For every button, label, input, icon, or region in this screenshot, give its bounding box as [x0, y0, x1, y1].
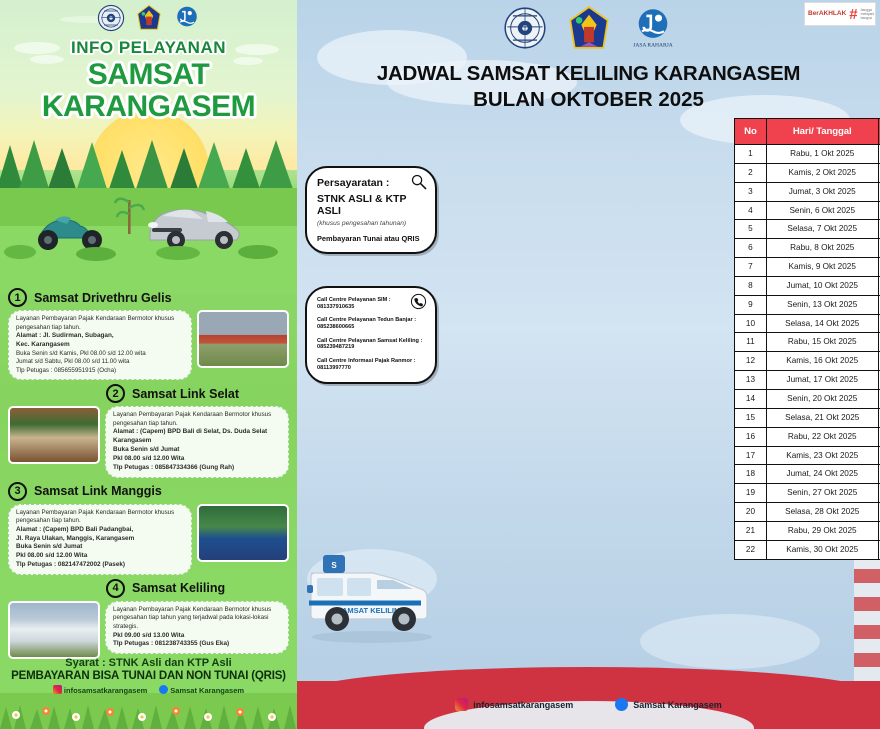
th-hari: Hari/ Tanggal: [766, 119, 878, 145]
call-number-pajak-ranmor: 08113997770: [317, 365, 425, 372]
table-row[interactable]: 4Senin, 6 Okt 2025Kantor Desa PempatanRe…: [735, 201, 880, 220]
cell-no: 20: [735, 503, 767, 522]
jasa-raharja-logo: JASA RAHARJA: [631, 6, 675, 50]
cell-hari-tanggal: Senin, 20 Okt 2025: [766, 389, 878, 408]
service-4-photo: [8, 601, 100, 659]
service-4-line-2: Tlp Petugas : 081238743355 (Gus Eka): [113, 640, 281, 649]
cell-no: 4: [735, 201, 767, 220]
cloud-icon: [640, 614, 820, 669]
service-2-line-0: Layanan Pembayaran Pajak Kendaraan Bermo…: [113, 411, 281, 428]
call-centre-item[interactable]: Call Centre Pelayanan Samsat Keliling : …: [317, 338, 425, 352]
cell-hari-tanggal: Jumat, 3 Okt 2025: [766, 182, 878, 201]
table-header-row: No Hari/ Tanggal Lokasi/Tempat Kecamatan…: [735, 119, 880, 145]
service-1-line-3: Buka Senin s/d Kamis, Pkl 08.00 s/d 12.0…: [16, 350, 184, 359]
right-instagram-label: infosamsatkarangasem: [473, 700, 573, 710]
left-syarat-text: Syarat : STNK Asli dan KTP Asli: [0, 657, 297, 669]
cell-no: 1: [735, 145, 767, 164]
cell-no: 16: [735, 427, 767, 446]
berakhlak-tagline: banggamelayanibangsa: [861, 8, 875, 21]
service-4-header: 4 Samsat Keliling: [8, 579, 289, 598]
table-row[interactable]: 10Selasa, 14 Okt 2025Pasar SinduwatiSide…: [735, 314, 880, 333]
service-2-line-3: Pkl 08.00 s/d 12.00 Wita: [113, 455, 281, 464]
service-3-line-4: Pkl 08.00 s/d 12.00 Wita: [16, 552, 184, 561]
service-1-line-4: Jumat s/d Sabtu, Pkl 08.00 s/d 11.00 wit…: [16, 358, 184, 367]
left-pembayaran-text: PEMBAYARAN BISA TUNAI DAN NON TUNAI (QRI…: [0, 670, 297, 682]
service-1-header: 1 Samsat Drivethru Gelis: [8, 288, 289, 307]
service-item-2[interactable]: 2 Samsat Link Selat Layanan Pembayaran P…: [8, 384, 289, 477]
call-number-sim: 081337910635: [317, 304, 425, 311]
poster-root: INFO PELAYANAN SAMSAT KARANGASEM: [0, 0, 880, 729]
svg-text:S: S: [331, 561, 337, 570]
service-1-details: Layanan Pembayaran Pajak Kendaraan Bermo…: [8, 310, 192, 380]
service-3-line-2: Jl. Raya Ulakan, Manggis, Karangasem: [16, 535, 184, 544]
cell-hari-tanggal: Rabu, 8 Okt 2025: [766, 239, 878, 258]
cell-no: 17: [735, 446, 767, 465]
info-column: Persayaratan : STNK ASLI & KTP ASLI (khu…: [305, 166, 437, 384]
table-row[interactable]: 13Jumat, 17 Okt 2025Polsek AbangAbangTed…: [735, 371, 880, 390]
service-list: 1 Samsat Drivethru Gelis Layanan Pembaya…: [0, 288, 297, 663]
call-centre-item[interactable]: Call Centre Pelayanan SIM : 081337910635: [317, 297, 425, 311]
table-row[interactable]: 3Jumat, 3 Okt 2025Lapangan Umum Bebandem…: [735, 182, 880, 201]
cell-no: 22: [735, 540, 767, 559]
cell-no: 10: [735, 314, 767, 333]
requirements-heading: Persayaratan :: [317, 177, 425, 189]
search-icon: [410, 173, 427, 190]
berakhlak-label: BerAKHLAK: [808, 11, 846, 18]
service-4-title: Samsat Keliling: [132, 581, 225, 595]
call-label-samsat-keliling: Call Centre Pelayanan Samsat Keliling :: [317, 338, 425, 345]
left-social-row: infosamsatkarangasem Samsat Karangasem: [0, 685, 297, 695]
cell-no: 21: [735, 521, 767, 540]
service-3-title: Samsat Link Manggis: [34, 484, 162, 498]
cell-hari-tanggal: Jumat, 24 Okt 2025: [766, 465, 878, 484]
hero-illustration: [0, 140, 297, 290]
service-1-body: Layanan Pembayaran Pajak Kendaraan Bermo…: [8, 310, 289, 380]
table-row[interactable]: 9Senin, 13 Okt 2025Br. Batang Desa Labas…: [735, 295, 880, 314]
table-row[interactable]: 21Rabu, 29 Okt 2025Kantor Desa BesakihRe…: [735, 521, 880, 540]
service-1-title: Samsat Drivethru Gelis: [34, 291, 172, 305]
service-4-number: 4: [106, 579, 125, 598]
left-title-large: SAMSAT KARANGASEM: [0, 59, 297, 122]
service-3-photo: [197, 504, 289, 562]
call-number-samsat-keliling: 085239487219: [317, 344, 425, 351]
left-instagram-handle[interactable]: infosamsatkarangasem: [53, 685, 147, 695]
cell-hari-tanggal: Rabu, 1 Okt 2025: [766, 145, 878, 164]
cell-no: 15: [735, 408, 767, 427]
cell-hari-tanggal: Selasa, 7 Okt 2025: [766, 220, 878, 239]
service-1-photo: [197, 310, 289, 368]
service-1-line-1: Alamat : Jl. Sudirman, Subagan,: [16, 332, 184, 341]
cell-no: 19: [735, 484, 767, 503]
polri-logo: [97, 4, 125, 32]
schedule-title-line1: JADWAL SAMSAT KELILING KARANGASEM: [297, 62, 880, 86]
requirements-box: Persayaratan : STNK ASLI & KTP ASLI (khu…: [305, 166, 437, 254]
service-3-details: Layanan Pembayaran Pajak Kendaraan Bermo…: [8, 504, 192, 575]
service-4-body: Layanan Pembayaran Pajak Kendaraan Bermo…: [8, 601, 289, 659]
facebook-icon: [159, 685, 168, 694]
left-title-small: INFO PELAYANAN: [0, 38, 297, 58]
call-centre-item[interactable]: Call Centre Informasi Pajak Ranmor : 081…: [317, 358, 425, 372]
phone-icon: [410, 293, 427, 310]
cell-no: 2: [735, 163, 767, 182]
service-1-line-0: Layanan Pembayaran Pajak Kendaraan Bermo…: [16, 315, 184, 332]
cell-no: 8: [735, 276, 767, 295]
cell-no: 9: [735, 295, 767, 314]
cell-hari-tanggal: Kamis, 30 Okt 2025: [766, 540, 878, 559]
flower-border: [0, 693, 297, 729]
service-2-line-2: Buka Senin s/d Jumat: [113, 446, 281, 455]
service-2-number: 2: [106, 384, 125, 403]
flag-decoration: [854, 541, 880, 681]
requirements-payment: Pembayaran Tunai atau QRIS: [317, 234, 425, 243]
service-2-header: 2 Samsat Link Selat: [8, 384, 289, 403]
cell-no: 11: [735, 333, 767, 352]
cell-hari-tanggal: Senin, 6 Okt 2025: [766, 201, 878, 220]
right-facebook-handle[interactable]: Samsat Karangasem: [615, 698, 722, 711]
table-row[interactable]: 6Rabu, 8 Okt 2025Polsek SidemenSidemen08…: [735, 239, 880, 258]
service-1-number: 1: [8, 288, 27, 307]
cell-hari-tanggal: Jumat, 10 Okt 2025: [766, 276, 878, 295]
forest-scene-svg: [0, 140, 297, 290]
call-number-tedun-banjar: 085238600665: [317, 324, 425, 331]
tree-row: [0, 140, 294, 192]
berakhlak-badge: BerAKHLAK # banggamelayanibangsa: [804, 2, 876, 26]
cell-no: 18: [735, 465, 767, 484]
table-row[interactable]: 17Kamis, 23 Okt 2025Pasar Desa Adat Sibe…: [735, 446, 880, 465]
cell-no: 7: [735, 258, 767, 277]
table-row[interactable]: 19Senin, 27 Okt 2025Br. Batang Desa Laba…: [735, 484, 880, 503]
service-2-details: Layanan Pembayaran Pajak Kendaraan Bermo…: [105, 406, 289, 477]
table-row[interactable]: 1Rabu, 1 Okt 2025Kantor Desa BunutanAban…: [735, 145, 880, 164]
cell-hari-tanggal: Kamis, 9 Okt 2025: [766, 258, 878, 277]
table-row[interactable]: 11Rabu, 15 Okt 2025Br. Batang Desa Labas…: [735, 333, 880, 352]
call-centre-item[interactable]: Call Centre Pelayanan Tedun Banjar : 085…: [317, 317, 425, 331]
service-3-line-3: Buka Senin s/d Jumat: [16, 543, 184, 552]
table-row[interactable]: 15Selasa, 21 Okt 2025Kantor Desa Ban Kub…: [735, 408, 880, 427]
table-row[interactable]: 8Jumat, 10 Okt 2025Polsek KubuKubuTedun …: [735, 276, 880, 295]
cell-hari-tanggal: Senin, 27 Okt 2025: [766, 484, 878, 503]
cell-hari-tanggal: Rabu, 29 Okt 2025: [766, 521, 878, 540]
cell-hari-tanggal: Kamis, 23 Okt 2025: [766, 446, 878, 465]
table-row[interactable]: 2Kamis, 2 Okt 2025Polsek SidemenSidemen0…: [735, 163, 880, 182]
schedule-table: No Hari/ Tanggal Lokasi/Tempat Kecamatan…: [734, 118, 880, 560]
table-row[interactable]: 14Senin, 20 Okt 2025Polsek SidemenSideme…: [735, 389, 880, 408]
cell-hari-tanggal: Rabu, 22 Okt 2025: [766, 427, 878, 446]
left-logo-row: [0, 4, 297, 32]
service-2-photo: [8, 406, 100, 464]
schedule-table-container: No Hari/ Tanggal Lokasi/Tempat Kecamatan…: [734, 118, 880, 560]
table-row[interactable]: 12Kamis, 16 Okt 2025Terminal bebandemBeb…: [735, 352, 880, 371]
table-row[interactable]: 20Selasa, 28 Okt 2025Polsek RendangRenda…: [735, 503, 880, 522]
service-3-header: 3 Samsat Link Manggis: [8, 482, 289, 501]
facebook-icon: [615, 698, 628, 711]
right-facebook-label: Samsat Karangasem: [633, 700, 722, 710]
cell-hari-tanggal: Rabu, 15 Okt 2025: [766, 333, 878, 352]
right-schedule-panel: BerAKHLAK # banggamelayanibangsa: [297, 0, 880, 729]
service-item-1[interactable]: 1 Samsat Drivethru Gelis Layanan Pembaya…: [8, 288, 289, 380]
cell-no: 5: [735, 220, 767, 239]
left-facebook-handle[interactable]: Samsat Karangasem: [159, 685, 244, 695]
call-label-sim: Call Centre Pelayanan SIM :: [317, 297, 425, 304]
service-2-title: Samsat Link Selat: [132, 387, 239, 401]
table-row[interactable]: 7Kamis, 9 Okt 2025Terminal bebandemBeban…: [735, 258, 880, 277]
service-1-line-2: Kec. Karangasem: [16, 341, 184, 350]
right-social-row: infosamsatkarangasem Samsat Karangasem: [297, 698, 880, 711]
hashtag-icon: #: [849, 7, 857, 22]
table-row[interactable]: 22Kamis, 30 Okt 2025Kantor Desa DukuhKub…: [735, 540, 880, 559]
cell-hari-tanggal: Selasa, 21 Okt 2025: [766, 408, 878, 427]
table-row[interactable]: 16Rabu, 22 Okt 2025Br. Batang Desa Labas…: [735, 427, 880, 446]
right-logo-row: JASA RAHARJA: [297, 6, 880, 50]
schedule-title-line2: BULAN OKTOBER 2025: [297, 88, 880, 112]
service-2-line-4: Tlp Petugas : 085847334366 (Gung Rah): [113, 464, 281, 473]
cell-hari-tanggal: Jumat, 17 Okt 2025: [766, 371, 878, 390]
left-info-panel: INFO PELAYANAN SAMSAT KARANGASEM: [0, 0, 297, 729]
left-footer: Syarat : STNK Asli dan KTP Asli PEMBAYAR…: [0, 657, 297, 695]
pemprov-bali-logo: [135, 4, 163, 32]
cell-no: 12: [735, 352, 767, 371]
samsat-keliling-van-illustration: SAMSAT KELILING S: [303, 525, 441, 645]
requirements-note: (khusus pengesahan tahunan): [317, 220, 425, 227]
call-centre-box: Call Centre Pelayanan SIM : 081337910635…: [305, 286, 437, 384]
call-label-pajak-ranmor: Call Centre Informasi Pajak Ranmor :: [317, 358, 425, 365]
service-3-line-1: Alamat : (Capem) BPD Bali Padangbai,: [16, 526, 184, 535]
table-row[interactable]: 18Jumat, 24 Okt 2025Sentral Parkir Desa …: [735, 465, 880, 484]
cell-hari-tanggal: Kamis, 16 Okt 2025: [766, 352, 878, 371]
service-2-body: Layanan Pembayaran Pajak Kendaraan Bermo…: [8, 406, 289, 477]
service-item-4[interactable]: 4 Samsat Keliling Layanan Pembayaran Paj…: [8, 579, 289, 659]
polri-logo: [503, 6, 547, 50]
service-3-body: Layanan Pembayaran Pajak Kendaraan Bermo…: [8, 504, 289, 575]
cell-hari-tanggal: Senin, 13 Okt 2025: [766, 295, 878, 314]
service-item-3[interactable]: 3 Samsat Link Manggis Layanan Pembayaran…: [8, 482, 289, 575]
svg-text:JASA RAHARJA: JASA RAHARJA: [633, 43, 673, 49]
cell-hari-tanggal: Kamis, 2 Okt 2025: [766, 163, 878, 182]
service-4-line-1: Pkl 09.00 s/d 13.00 Wita: [113, 632, 281, 641]
left-title-block: INFO PELAYANAN SAMSAT KARANGASEM: [0, 38, 297, 122]
service-2-line-1: Alamat : (Capem) BPD Bali di Selat, Ds. …: [113, 428, 281, 446]
service-3-line-0: Layanan Pembayaran Pajak Kendaraan Bermo…: [16, 509, 184, 526]
cell-hari-tanggal: Selasa, 14 Okt 2025: [766, 314, 878, 333]
cell-no: 13: [735, 371, 767, 390]
pemprov-bali-logo: [567, 6, 611, 50]
call-label-tedun-banjar: Call Centre Pelayanan Tedun Banjar :: [317, 317, 425, 324]
schedule-table-head: No Hari/ Tanggal Lokasi/Tempat Kecamatan…: [735, 119, 880, 145]
cell-no: 6: [735, 239, 767, 258]
cell-hari-tanggal: Selasa, 28 Okt 2025: [766, 503, 878, 522]
table-row[interactable]: 5Selasa, 7 Okt 2025Taman Cinta Candidasa…: [735, 220, 880, 239]
service-4-details: Layanan Pembayaran Pajak Kendaraan Bermo…: [105, 601, 289, 654]
service-3-line-5: Tlp Petugas : 082147472002 (Pasek): [16, 561, 184, 570]
jasa-raharja-logo: [173, 4, 201, 32]
right-title-block: JADWAL SAMSAT KELILING KARANGASEM BULAN …: [297, 62, 880, 112]
right-instagram-handle[interactable]: infosamsatkarangasem: [455, 698, 573, 711]
cell-no: 14: [735, 389, 767, 408]
requirements-main: STNK ASLI & KTP ASLI: [317, 193, 425, 217]
service-1-line-5: Tlp Petugas : 085655951915 (Ocha): [16, 367, 184, 376]
service-3-number: 3: [8, 482, 27, 501]
cell-no: 3: [735, 182, 767, 201]
instagram-icon: [455, 698, 468, 711]
service-4-line-0: Layanan Pembayaran Pajak Kendaraan Bermo…: [113, 606, 281, 632]
schedule-table-body: 1Rabu, 1 Okt 2025Kantor Desa BunutanAban…: [735, 145, 880, 560]
instagram-icon: [53, 685, 62, 694]
th-no: No: [735, 119, 767, 145]
